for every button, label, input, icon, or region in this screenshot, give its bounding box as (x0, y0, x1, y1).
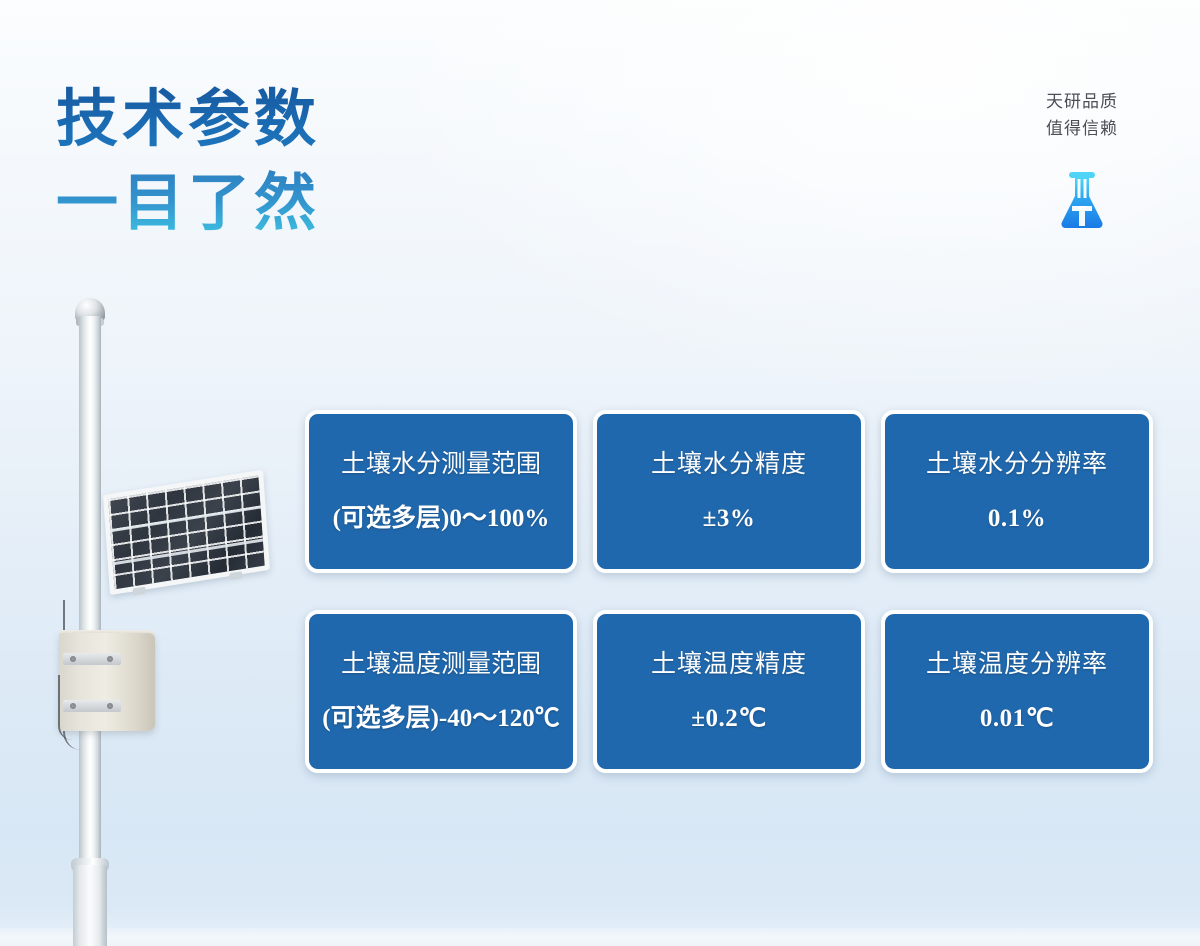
solar-panel (103, 470, 270, 595)
brand-slogan-line-2: 值得信赖 (1022, 115, 1142, 142)
soil-monitoring-station-photo (0, 280, 280, 946)
spec-card-value: (可选多层)-40～120℃ (322, 702, 559, 736)
brand-slogan-line-1: 天研品质 (1022, 88, 1142, 115)
spec-card: 土壤温度分辨率 0.01℃ (881, 610, 1153, 773)
page-title-line-2: 一目了然 (56, 166, 320, 242)
power-cable (58, 675, 72, 740)
bracket-bolt (107, 656, 113, 662)
page-title: 技术参数 一目了然 (56, 82, 320, 242)
spec-card: 土壤温度测量范围 (可选多层)-40～120℃ (305, 610, 577, 773)
spec-card-value: ±0.2℃ (691, 702, 767, 736)
control-box (59, 633, 155, 731)
flask-icon (1052, 168, 1112, 232)
page-title-line-1: 技术参数 (56, 82, 320, 158)
spec-card-title: 土壤水分精度 (651, 448, 807, 482)
spec-card-title: 土壤温度分辨率 (926, 648, 1108, 682)
pole-base (73, 865, 107, 946)
spec-card-value: (可选多层)0～100% (333, 502, 550, 536)
spec-card-value: ±3% (703, 502, 756, 536)
panel-foot (229, 571, 242, 580)
spec-card-title: 土壤水分测量范围 (341, 448, 541, 482)
page-root: 技术参数 一目了然 天研品质 值得信赖 (0, 0, 1200, 946)
spec-card-title: 土壤温度精度 (651, 648, 807, 682)
spec-card-value: 0.1% (988, 502, 1046, 536)
bracket-bolt (70, 656, 76, 662)
spec-card-title: 土壤温度测量范围 (341, 648, 541, 682)
spec-card: 土壤水分精度 ±3% (593, 410, 865, 573)
brand-block: 天研品质 值得信赖 (1022, 88, 1142, 232)
spec-card: 土壤水分分辨率 0.1% (881, 410, 1153, 573)
bracket-bolt (107, 703, 113, 709)
spec-card-title: 土壤水分分辨率 (926, 448, 1108, 482)
box-bracket (63, 653, 121, 665)
panel-foot (133, 587, 146, 596)
mounting-pole (79, 316, 101, 916)
spec-card-value: 0.01℃ (980, 702, 1054, 736)
spec-card: 土壤水分测量范围 (可选多层)0～100% (305, 410, 577, 573)
spec-card-grid: 土壤水分测量范围 (可选多层)0～100% 土壤水分精度 ±3% 土壤水分分辨率… (305, 410, 1165, 773)
spec-card: 土壤温度精度 ±0.2℃ (593, 610, 865, 773)
